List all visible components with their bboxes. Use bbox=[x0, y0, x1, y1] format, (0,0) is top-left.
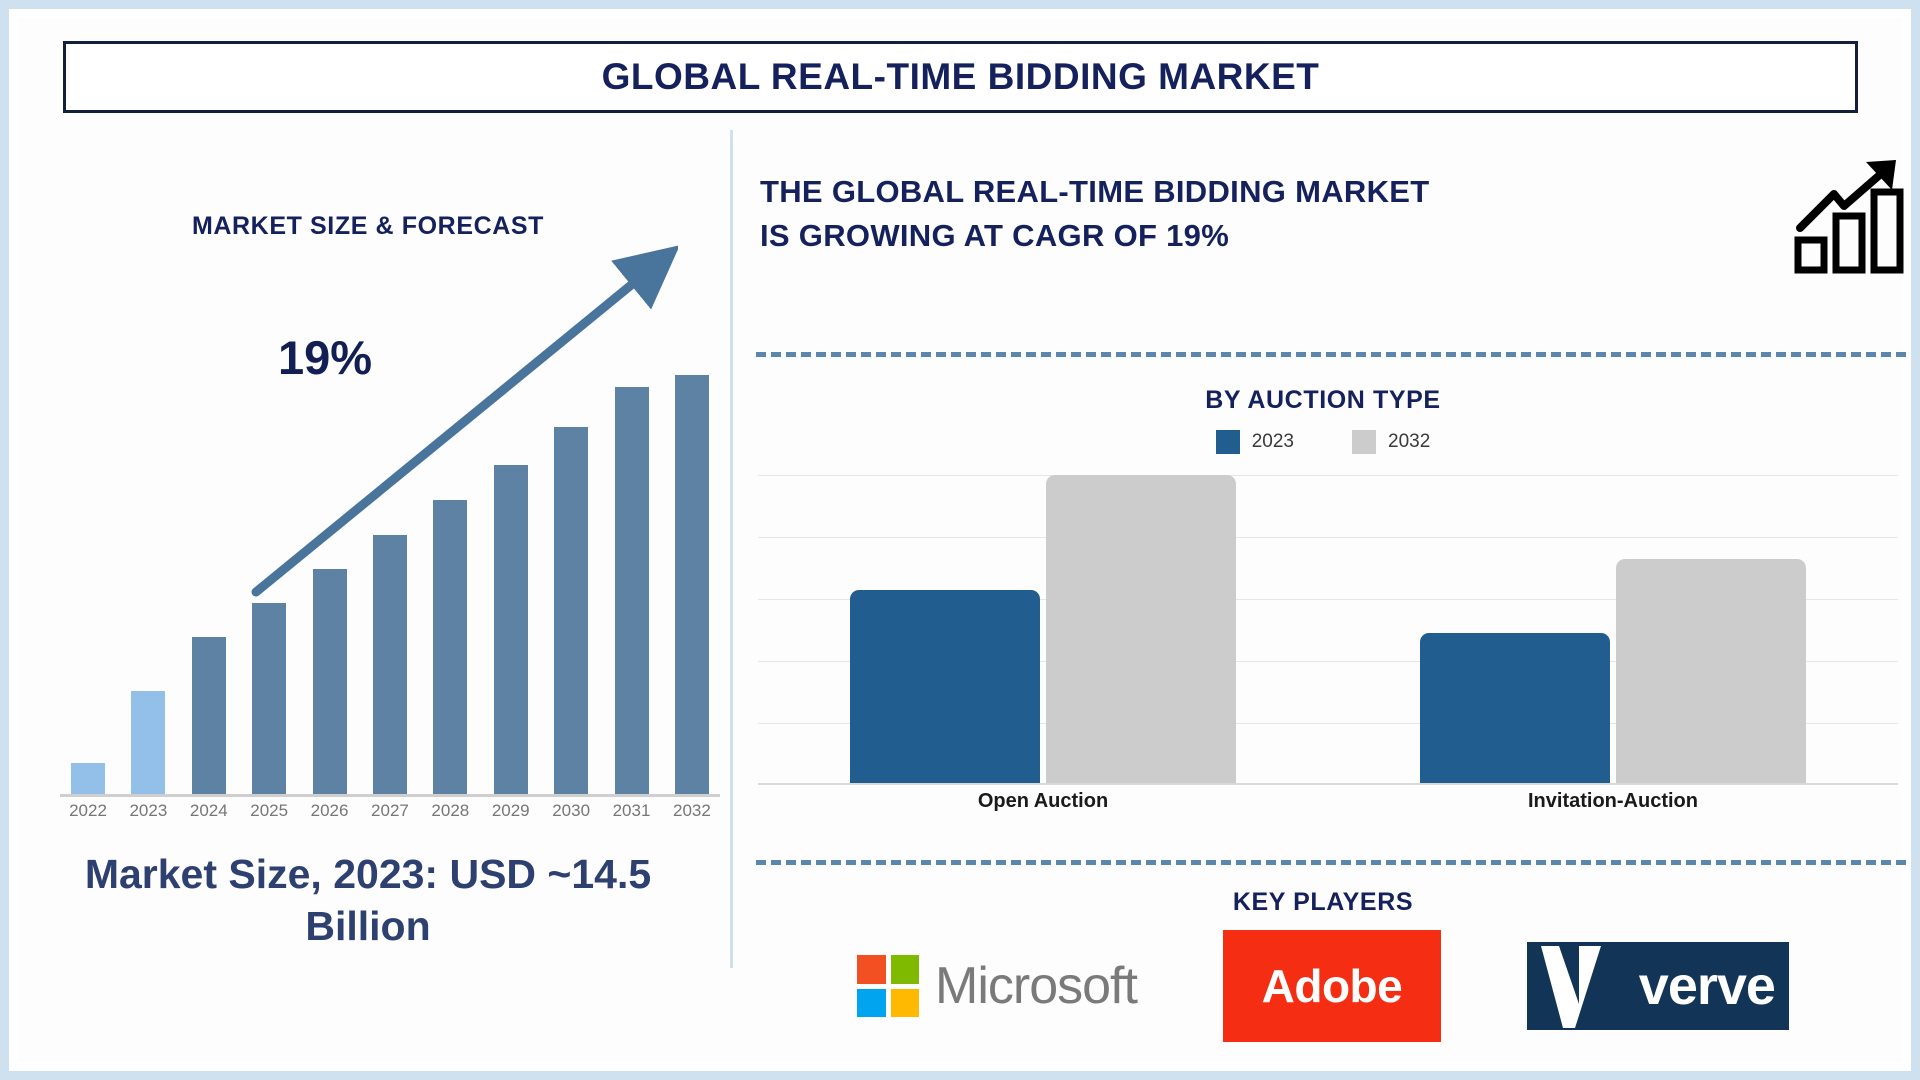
right-panel: THE GLOBAL REAL-TIME BIDDING MARKET IS G… bbox=[748, 130, 1918, 1070]
market-size-bar bbox=[373, 535, 407, 795]
market-size-bar-column bbox=[310, 375, 350, 795]
left-panel: MARKET SIZE & FORECAST 19% 2022202320242… bbox=[38, 130, 728, 1070]
market-size-bar-column bbox=[189, 375, 229, 795]
market-size-year-label: 2023 bbox=[128, 801, 168, 835]
verve-chevron-icon bbox=[1539, 942, 1605, 1030]
auction-bar-group bbox=[1383, 475, 1843, 785]
auction-legend: 20232032 bbox=[748, 430, 1898, 454]
auction-type-heading: BY AUCTION TYPE bbox=[748, 386, 1898, 415]
legend-item[interactable]: 2023 bbox=[1216, 430, 1294, 454]
infographic-inner: GLOBAL REAL-TIME BIDDING MARKET MARKET S… bbox=[18, 18, 1902, 1062]
market-size-year-label: 2025 bbox=[249, 801, 289, 835]
market-size-bar bbox=[675, 375, 709, 795]
market-size-year-label: 2028 bbox=[430, 801, 470, 835]
legend-swatch bbox=[1216, 430, 1240, 454]
market-size-bar-column bbox=[612, 375, 652, 795]
market-size-bar-column bbox=[128, 375, 168, 795]
market-size-year-label: 2032 bbox=[672, 801, 712, 835]
logo-microsoft: Microsoft bbox=[857, 955, 1137, 1017]
key-players-heading: KEY PLAYERS bbox=[748, 888, 1898, 917]
market-size-bar bbox=[494, 465, 528, 795]
market-size-bar bbox=[615, 387, 649, 795]
title-box: GLOBAL REAL-TIME BIDDING MARKET bbox=[63, 41, 1858, 113]
panel-divider bbox=[730, 130, 733, 968]
market-size-bar-column bbox=[551, 375, 591, 795]
logo-verve: verve bbox=[1527, 942, 1789, 1030]
microsoft-square-yellow bbox=[891, 989, 920, 1018]
market-size-bars bbox=[60, 375, 720, 795]
market-size-bar-chart: 2022202320242025202620272028202920302031… bbox=[60, 370, 720, 835]
market-size-year-label: 2030 bbox=[551, 801, 591, 835]
microsoft-squares-icon bbox=[857, 955, 919, 1017]
market-size-bar bbox=[433, 500, 467, 795]
headline-row: THE GLOBAL REAL-TIME BIDDING MARKET IS G… bbox=[760, 170, 1910, 274]
verve-wordmark: verve bbox=[1639, 955, 1775, 1017]
market-size-bar-column bbox=[249, 375, 289, 795]
microsoft-square-green bbox=[891, 955, 920, 984]
auction-bar-group bbox=[813, 475, 1273, 785]
key-players-row: Microsoft Adobe verve bbox=[748, 930, 1898, 1042]
adobe-wordmark: Adobe bbox=[1262, 959, 1403, 1013]
microsoft-square-red bbox=[857, 955, 886, 984]
auction-baseline bbox=[758, 783, 1898, 785]
headline: THE GLOBAL REAL-TIME BIDDING MARKET IS G… bbox=[760, 170, 1430, 258]
market-size-bar-column bbox=[491, 375, 531, 795]
auction-category-label: Invitation-Auction bbox=[1383, 790, 1843, 813]
market-size-value: Market Size, 2023: USD ~14.5 Billion bbox=[38, 848, 698, 953]
market-size-bar-column bbox=[68, 375, 108, 795]
market-size-heading: MARKET SIZE & FORECAST bbox=[38, 212, 698, 241]
market-size-bar bbox=[131, 691, 165, 795]
auction-category-labels: Open AuctionInvitation-Auction bbox=[758, 790, 1898, 813]
microsoft-wordmark: Microsoft bbox=[935, 956, 1137, 1016]
auction-bar-2032 bbox=[1046, 475, 1236, 785]
market-size-year-label: 2027 bbox=[370, 801, 410, 835]
logo-adobe: Adobe bbox=[1223, 930, 1441, 1042]
market-size-year-label: 2026 bbox=[310, 801, 350, 835]
auction-bar-2023 bbox=[850, 590, 1040, 785]
market-size-bar bbox=[71, 763, 105, 795]
market-size-bar bbox=[313, 569, 347, 795]
microsoft-square-blue bbox=[857, 989, 886, 1018]
legend-swatch bbox=[1352, 430, 1376, 454]
auction-bar-2023 bbox=[1420, 633, 1610, 785]
infographic-page: GLOBAL REAL-TIME BIDDING MARKET MARKET S… bbox=[0, 0, 1920, 1080]
market-size-bar-column bbox=[672, 375, 712, 795]
legend-label: 2023 bbox=[1252, 431, 1294, 453]
divider-bottom bbox=[756, 860, 1906, 865]
auction-type-chart bbox=[758, 475, 1898, 785]
auction-category-label: Open Auction bbox=[813, 790, 1273, 813]
market-size-year-label: 2022 bbox=[68, 801, 108, 835]
market-size-year-label: 2024 bbox=[189, 801, 229, 835]
market-size-bar-column bbox=[370, 375, 410, 795]
market-size-year-label: 2029 bbox=[491, 801, 531, 835]
market-size-bar-column bbox=[430, 375, 470, 795]
market-size-bar bbox=[252, 603, 286, 795]
auction-bar-2032 bbox=[1616, 559, 1806, 785]
market-size-bar bbox=[554, 427, 588, 795]
headline-line-2: IS GROWING AT CAGR OF 19% bbox=[760, 214, 1430, 258]
headline-line-1: THE GLOBAL REAL-TIME BIDDING MARKET bbox=[760, 170, 1430, 214]
auction-bar-groups bbox=[758, 475, 1898, 785]
market-size-year-labels: 2022202320242025202620272028202920302031… bbox=[60, 801, 720, 835]
legend-label: 2032 bbox=[1388, 431, 1430, 453]
growth-arrow-icon bbox=[1792, 156, 1910, 274]
market-size-year-label: 2031 bbox=[612, 801, 652, 835]
page-title: GLOBAL REAL-TIME BIDDING MARKET bbox=[602, 56, 1320, 98]
legend-item[interactable]: 2032 bbox=[1352, 430, 1430, 454]
market-size-bar bbox=[192, 637, 226, 795]
divider-top bbox=[756, 352, 1906, 357]
market-size-axis bbox=[60, 794, 720, 797]
